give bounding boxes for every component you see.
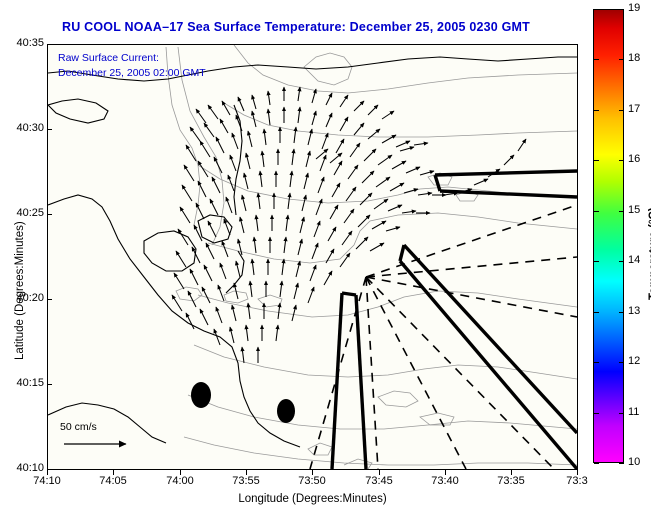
map-plot-area: Raw Surface Current: December 25, 2005 0… xyxy=(47,44,578,470)
scale-arrow-icon xyxy=(60,433,140,455)
colorbar-label-19: 19 xyxy=(628,2,640,14)
colorbar-label-15: 15 xyxy=(628,204,640,216)
ytick-label-3: 40:25 xyxy=(2,207,44,219)
x-axis-title: Longitude (Degrees:Minutes) xyxy=(47,493,578,505)
xtick-label-3: 73:55 xyxy=(216,475,276,487)
xtick-label-7: 73:35 xyxy=(481,475,541,487)
colorbar-label-18: 18 xyxy=(628,52,640,64)
y-axis-title: Latitude (Degrees:Minutes) xyxy=(14,221,26,360)
velocity-scale-legend: 50 cm/s xyxy=(60,421,140,460)
temperature-colorbar xyxy=(593,9,624,463)
xtick-label-1: 74:05 xyxy=(83,475,143,487)
annotation-line-1: Raw Surface Current: xyxy=(58,51,206,66)
sst-map-figure: RU COOL NOAA–17 Sea Surface Temperature:… xyxy=(0,0,651,519)
xtick-label-8: 73:3 xyxy=(547,475,607,487)
colorbar-label-10: 10 xyxy=(628,456,640,468)
scale-label: 50 cm/s xyxy=(60,421,140,433)
coastline xyxy=(48,57,577,447)
colorbar-label-16: 16 xyxy=(628,153,640,165)
xtick-label-4: 73:50 xyxy=(282,475,342,487)
annotation-line-2: December 25, 2005 02:00 GMT xyxy=(58,66,206,81)
current-annotation: Raw Surface Current: December 25, 2005 0… xyxy=(58,51,206,81)
colorbar-label-13: 13 xyxy=(628,305,640,317)
xtick-label-5: 73:45 xyxy=(349,475,409,487)
map-canvas xyxy=(48,45,577,469)
colorbar-label-14: 14 xyxy=(628,254,640,266)
colorbar-label-11: 11 xyxy=(628,406,639,418)
colorbar-label-17: 17 xyxy=(628,103,640,115)
ytick-label-0: 40:10 xyxy=(2,462,44,474)
ytick-label-5: 40:35 xyxy=(2,37,44,49)
ytick-label-1: 40:15 xyxy=(2,377,44,389)
xtick-label-0: 74:10 xyxy=(17,475,77,487)
figure-title: RU COOL NOAA–17 Sea Surface Temperature:… xyxy=(0,20,592,34)
colorbar-label-12: 12 xyxy=(628,355,640,367)
station-markers xyxy=(191,382,295,423)
xtick-label-2: 74:00 xyxy=(150,475,210,487)
ytick-label-4: 40:30 xyxy=(2,122,44,134)
xtick-label-6: 73:40 xyxy=(415,475,475,487)
